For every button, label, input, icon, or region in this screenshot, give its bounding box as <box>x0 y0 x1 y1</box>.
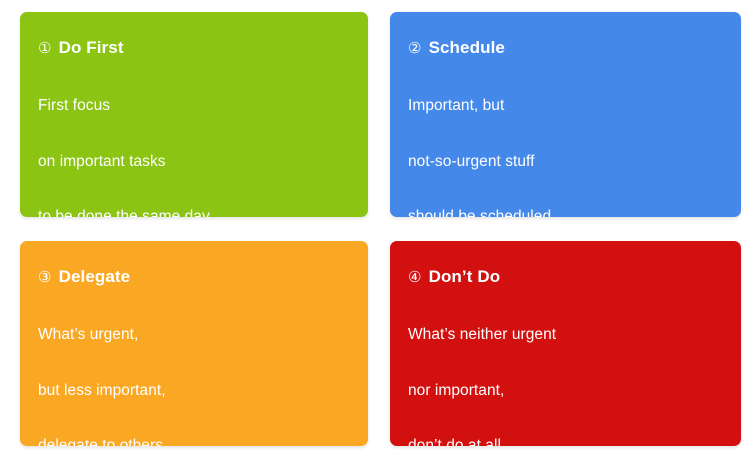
quadrant-delegate-line-3: delegate to others. <box>38 426 344 446</box>
quadrant-schedule-line-1: Important, but <box>408 86 717 126</box>
quadrant-schedule-line-3: should be scheduled. <box>408 197 717 217</box>
quadrant-dont-do-title: ④ Don’t Do <box>408 267 717 287</box>
quadrant-do-first-title-text: Do First <box>59 38 124 58</box>
quadrant-dont-do[interactable]: ④ Don’t Do What’s neither urgent nor imp… <box>390 241 741 446</box>
quadrant-do-first[interactable]: ① Do First First focus on important task… <box>20 12 368 217</box>
quadrant-do-first-line-2: on important tasks <box>38 142 344 182</box>
quadrant-dont-do-title-text: Don’t Do <box>429 267 501 287</box>
quadrant-schedule-title-text: Schedule <box>429 38 505 58</box>
quadrant-do-first-line-3: to be done the same day. <box>38 197 344 217</box>
quadrant-dont-do-line-1: What’s neither urgent <box>408 315 717 355</box>
quadrant-delegate-line-2: but less important, <box>38 371 344 411</box>
quadrant-delegate-title: ③ Delegate <box>38 267 344 287</box>
quadrant-dont-do-line-2: nor important, <box>408 371 717 411</box>
quadrant-schedule-body: Important, but not-so-urgent stuff shoul… <box>408 86 717 217</box>
circled-number-two-icon: ② <box>408 38 422 58</box>
circled-number-three-icon: ③ <box>38 267 52 287</box>
quadrant-do-first-title: ① Do First <box>38 38 344 58</box>
quadrant-delegate[interactable]: ③ Delegate What’s urgent, but less impor… <box>20 241 368 446</box>
eisenhower-matrix: ① Do First First focus on important task… <box>0 0 753 460</box>
quadrant-delegate-body: What’s urgent, but less important, deleg… <box>38 315 344 446</box>
circled-number-one-icon: ① <box>38 38 52 58</box>
quadrant-schedule-line-2: not-so-urgent stuff <box>408 142 717 182</box>
quadrant-delegate-line-1: What’s urgent, <box>38 315 344 355</box>
quadrant-schedule-title: ② Schedule <box>408 38 717 58</box>
quadrant-delegate-title-text: Delegate <box>59 267 131 287</box>
quadrant-schedule[interactable]: ② Schedule Important, but not-so-urgent … <box>390 12 741 217</box>
quadrant-do-first-body: First focus on important tasks to be don… <box>38 86 344 217</box>
quadrant-dont-do-line-3: don’t do at all. <box>408 426 717 446</box>
quadrant-do-first-line-1: First focus <box>38 86 344 126</box>
quadrant-dont-do-body: What’s neither urgent nor important, don… <box>408 315 717 446</box>
circled-number-four-icon: ④ <box>408 267 422 287</box>
